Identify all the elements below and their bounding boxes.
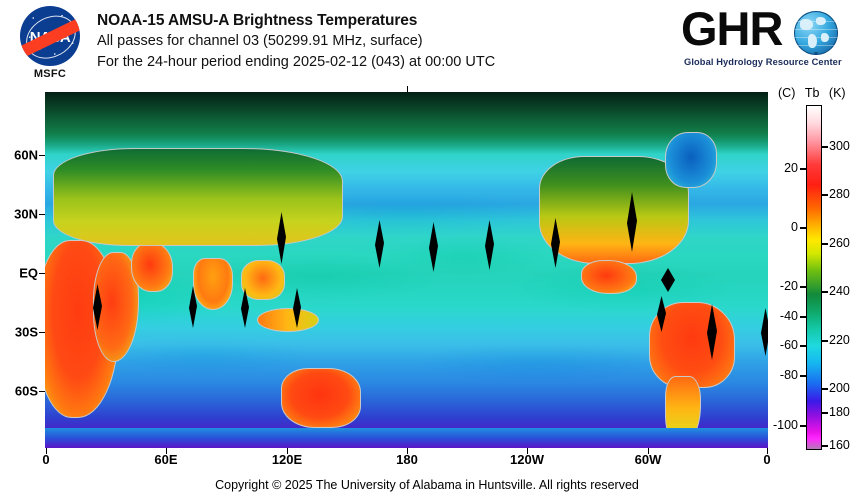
copyright-notice: Copyright © 2025 The University of Alaba… [0,478,854,492]
y-axis-label: EQ [19,266,38,281]
y-axis-label: 30N [14,207,38,222]
colorbar-kelvin-tick [822,412,828,414]
colorbar-kelvin-label: 220 [829,333,850,347]
colorbar-kelvin-tick [822,243,828,245]
x-axis-label: 60W [635,452,662,467]
colorbar-celsius-tick [800,227,806,229]
colorbar-celsius-label: -80 [780,368,798,382]
y-axis-label: 60N [14,148,38,163]
colorbar-kelvin-tick [822,194,828,196]
colorbar-celsius-labels: 20 0 -20 -40 -60 -80 -100 [740,0,798,502]
colorbar-celsius-tick [800,345,806,347]
landmass-australia [281,368,361,428]
landmass-eurasia [53,148,343,246]
landmass-antarctica [45,428,768,448]
title-block: NOAA-15 AMSU-A Brightness Temperatures A… [97,10,495,73]
page-title: NOAA-15 AMSU-A Brightness Temperatures [97,10,495,31]
colorbar-kelvin-label: 280 [829,187,850,201]
page-period: For the 24-hour period ending 2025-02-12… [97,52,495,73]
colorbar-kelvin-tick [822,146,828,148]
y-tick [39,332,45,333]
colorbar-celsius-tick [800,168,806,170]
brightness-temperature-map[interactable] [45,92,768,448]
y-tick [39,391,45,392]
colorbar-celsius-label: -20 [780,279,798,293]
colorbar-celsius-label: -100 [773,418,798,432]
colorbar-kelvin-label: 300 [829,139,850,153]
colorbar-kelvin-label: 200 [829,381,850,395]
y-axis-labels: 60N 30N EQ 30S 60S [0,0,38,502]
colorbar-kelvin-tick [822,445,828,447]
landmass-greenland [665,132,717,188]
y-axis-label: 30S [15,325,38,340]
colorbar-kelvin-label: 180 [829,405,850,419]
colorbar-kelvin-label: 160 [829,438,850,452]
landmass-southeast-asia [241,260,285,300]
colorbar-variable: Tb [805,86,820,100]
globe-icon [794,11,838,55]
colorbar-celsius-tick [800,316,806,318]
globe-stand [815,52,818,55]
colorbar-celsius-label: -60 [780,338,798,352]
northern-cold-band [45,92,768,154]
colorbar-celsius-label: 0 [791,220,798,234]
colorbar-kelvin-tick [822,388,828,390]
y-tick [39,155,45,156]
landmass-indonesia [257,308,319,332]
landmass-india [193,258,233,310]
x-axis-label: 60E [154,452,177,467]
colorbar-kelvin-unit: (K) [829,86,846,100]
x-axis-label: 120W [510,452,544,467]
landmass-mexico-central-america [581,260,637,294]
colorbar-celsius-label: 20 [784,161,798,175]
colorbar-kelvin-label: 240 [829,284,850,298]
x-axis-label: 180 [396,452,418,467]
colorbar-kelvin-label: 260 [829,236,850,250]
y-axis-label: 60S [15,384,38,399]
colorbar-celsius-label: -40 [780,309,798,323]
page-subtitle: All passes for channel 03 (50299.91 MHz,… [97,31,495,52]
colorbar-gradient [806,105,822,450]
x-axis-label: 0 [42,452,49,467]
colorbar-kelvin-tick [822,291,828,293]
x-tick-top [407,86,408,92]
colorbar-celsius-tick [800,375,806,377]
y-tick [39,214,45,215]
colorbar-celsius-tick [800,425,806,427]
colorbar-kelvin-tick [822,340,828,342]
landmass-arabia [131,242,173,292]
y-tick [39,273,45,274]
screenshot-root: NASA MSFC NOAA-15 AMSU-A Brightness Temp… [0,0,854,502]
colorbar-celsius-tick [800,286,806,288]
x-axis-label: 120E [272,452,302,467]
